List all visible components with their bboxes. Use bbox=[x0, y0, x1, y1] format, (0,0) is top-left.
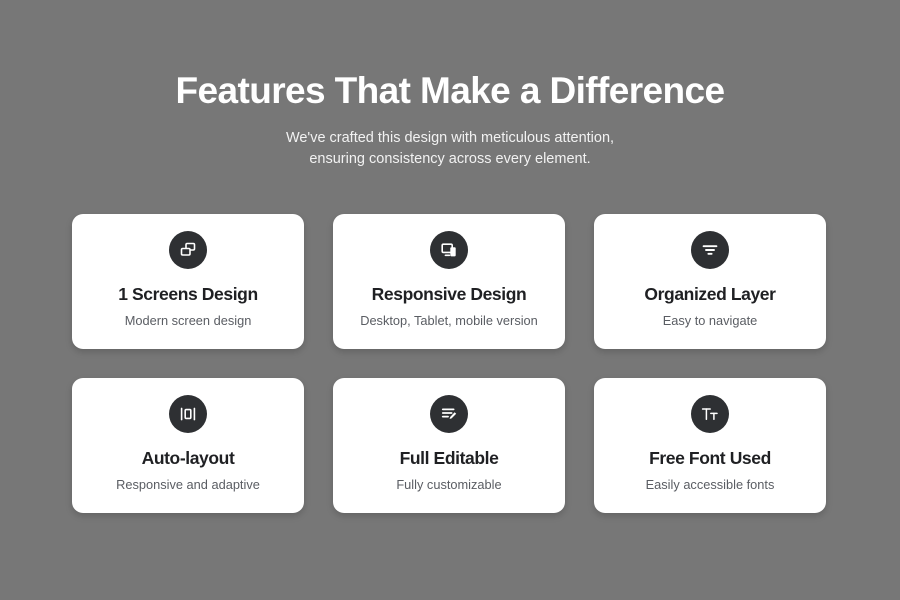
feature-card[interactable]: Responsive Design Desktop, Tablet, mobil… bbox=[333, 214, 565, 349]
feature-card[interactable]: Free Font Used Easily accessible fonts bbox=[594, 378, 826, 513]
feature-card-title: Free Font Used bbox=[649, 448, 771, 469]
feature-card-grid: 1 Screens Design Modern screen design Re… bbox=[72, 214, 828, 513]
feature-card-title: Responsive Design bbox=[372, 284, 527, 305]
feature-card-title: 1 Screens Design bbox=[118, 284, 258, 305]
edit-pencil-icon bbox=[430, 395, 468, 433]
auto-layout-icon bbox=[169, 395, 207, 433]
feature-card[interactable]: Full Editable Fully customizable bbox=[333, 378, 565, 513]
typography-tt-icon bbox=[691, 395, 729, 433]
feature-card-title: Full Editable bbox=[400, 448, 499, 469]
subtitle-line-1: We've crafted this design with meticulou… bbox=[0, 128, 900, 149]
feature-card-title: Organized Layer bbox=[644, 284, 775, 305]
feature-card[interactable]: Auto-layout Responsive and adaptive bbox=[72, 378, 304, 513]
feature-card-description: Responsive and adaptive bbox=[116, 477, 260, 494]
features-page: Features That Make a Difference We've cr… bbox=[0, 0, 900, 600]
feature-card[interactable]: 1 Screens Design Modern screen design bbox=[72, 214, 304, 349]
filter-layers-icon bbox=[691, 231, 729, 269]
subtitle-line-2: ensuring consistency across every elemen… bbox=[0, 149, 900, 170]
feature-card[interactable]: Organized Layer Easy to navigate bbox=[594, 214, 826, 349]
feature-card-description: Modern screen design bbox=[125, 313, 252, 330]
responsive-devices-icon bbox=[430, 231, 468, 269]
feature-card-description: Fully customizable bbox=[396, 477, 501, 494]
page-title: Features That Make a Difference bbox=[0, 70, 900, 113]
duplicate-screens-icon bbox=[169, 231, 207, 269]
feature-card-description: Easy to navigate bbox=[663, 313, 758, 330]
page-header: Features That Make a Difference We've cr… bbox=[0, 0, 900, 170]
feature-card-description: Easily accessible fonts bbox=[646, 477, 775, 494]
feature-card-description: Desktop, Tablet, mobile version bbox=[360, 313, 538, 330]
feature-card-title: Auto-layout bbox=[142, 448, 235, 469]
page-subtitle: We've crafted this design with meticulou… bbox=[0, 128, 900, 170]
